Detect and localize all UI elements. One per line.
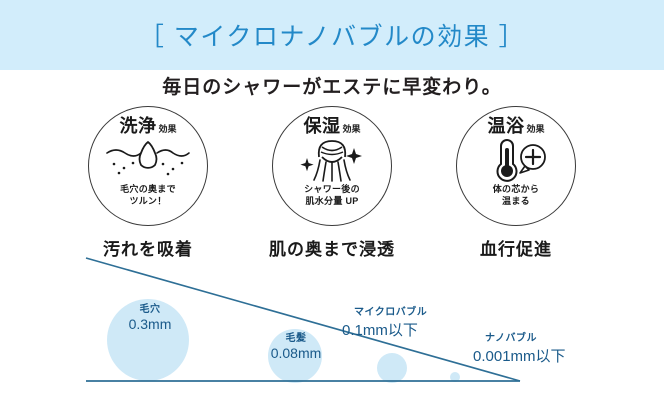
badge-title-suffix: 効果	[342, 125, 360, 134]
page-title: ［ マイクロナノバブルの効果 ］	[0, 0, 664, 70]
badge-circle: 温浴 効果 体の芯から 温まる	[456, 106, 576, 226]
label-nanobubble: ナノバブル 0.001mm以下	[473, 329, 613, 366]
thermometer-plus-icon	[473, 137, 559, 183]
face-sparkle-icon	[289, 137, 375, 183]
label-microbubble-value: 0.1mm以下	[342, 319, 470, 340]
label-hair: 毛髪 0.08mm	[250, 329, 342, 361]
badge-title: 温浴	[487, 117, 524, 135]
size-comparison-diagram: 毛穴 0.3mm 毛髪 0.08mm マイクロバブル 0.1mm以下 ナノバブル…	[0, 250, 664, 413]
subtitle: 毎日のシャワーがエステに早変わり。	[0, 72, 664, 99]
badge-subtext-line1: 体の芯から	[493, 184, 540, 196]
badge-subtext: 毛穴の奥まで ツルン！	[120, 184, 176, 207]
bubble-micro	[377, 353, 407, 383]
label-microbubble: マイクロバブル 0.1mm以下	[342, 303, 470, 340]
badge-heading: 洗浄 効果	[119, 117, 176, 135]
label-nanobubble-value: 0.001mm以下	[473, 345, 613, 366]
badge-heading: 温浴 効果	[487, 117, 544, 135]
effect-badge-moisturizing: 保湿 効果	[239, 106, 425, 256]
label-hair-value: 0.08mm	[250, 345, 342, 361]
label-hair-name: 毛髪	[250, 329, 342, 344]
label-microbubble-name: マイクロバブル	[354, 303, 470, 318]
badge-subtext-line2: ツルン！	[120, 196, 176, 208]
effect-badge-cleansing: 洗浄 効果	[55, 106, 241, 256]
effect-badge-warming: 温浴 効果 体の芯から 温まる	[423, 106, 609, 256]
pore-droplet-icon	[105, 137, 191, 183]
badge-circle: 保湿 効果	[272, 106, 392, 226]
badge-subtext: シャワー後の 肌水分量 UP	[304, 184, 360, 207]
label-pore-value: 0.3mm	[100, 316, 200, 332]
badge-subtext-line2: 肌水分量 UP	[304, 196, 360, 208]
badge-title: 洗浄	[119, 117, 156, 135]
badge-subtext-line2: 温まる	[493, 196, 540, 208]
badge-subtext-line1: 毛穴の奥まで	[120, 184, 176, 196]
label-nanobubble-name: ナノバブル	[485, 329, 613, 344]
effect-badges: 洗浄 効果	[0, 106, 664, 256]
badge-subtext-line1: シャワー後の	[304, 184, 360, 196]
badge-title: 保湿	[303, 117, 340, 135]
infographic-page: ［ マイクロナノバブルの効果 ］ 毎日のシャワーがエステに早変わり。 洗浄 効果	[0, 0, 664, 413]
label-pore: 毛穴 0.3mm	[100, 300, 200, 332]
badge-heading: 保湿 効果	[303, 117, 360, 135]
label-pore-name: 毛穴	[100, 300, 200, 315]
badge-title-suffix: 効果	[526, 125, 544, 134]
badge-title-suffix: 効果	[158, 125, 176, 134]
badge-circle: 洗浄 効果	[88, 106, 208, 226]
badge-subtext: 体の芯から 温まる	[493, 184, 540, 207]
